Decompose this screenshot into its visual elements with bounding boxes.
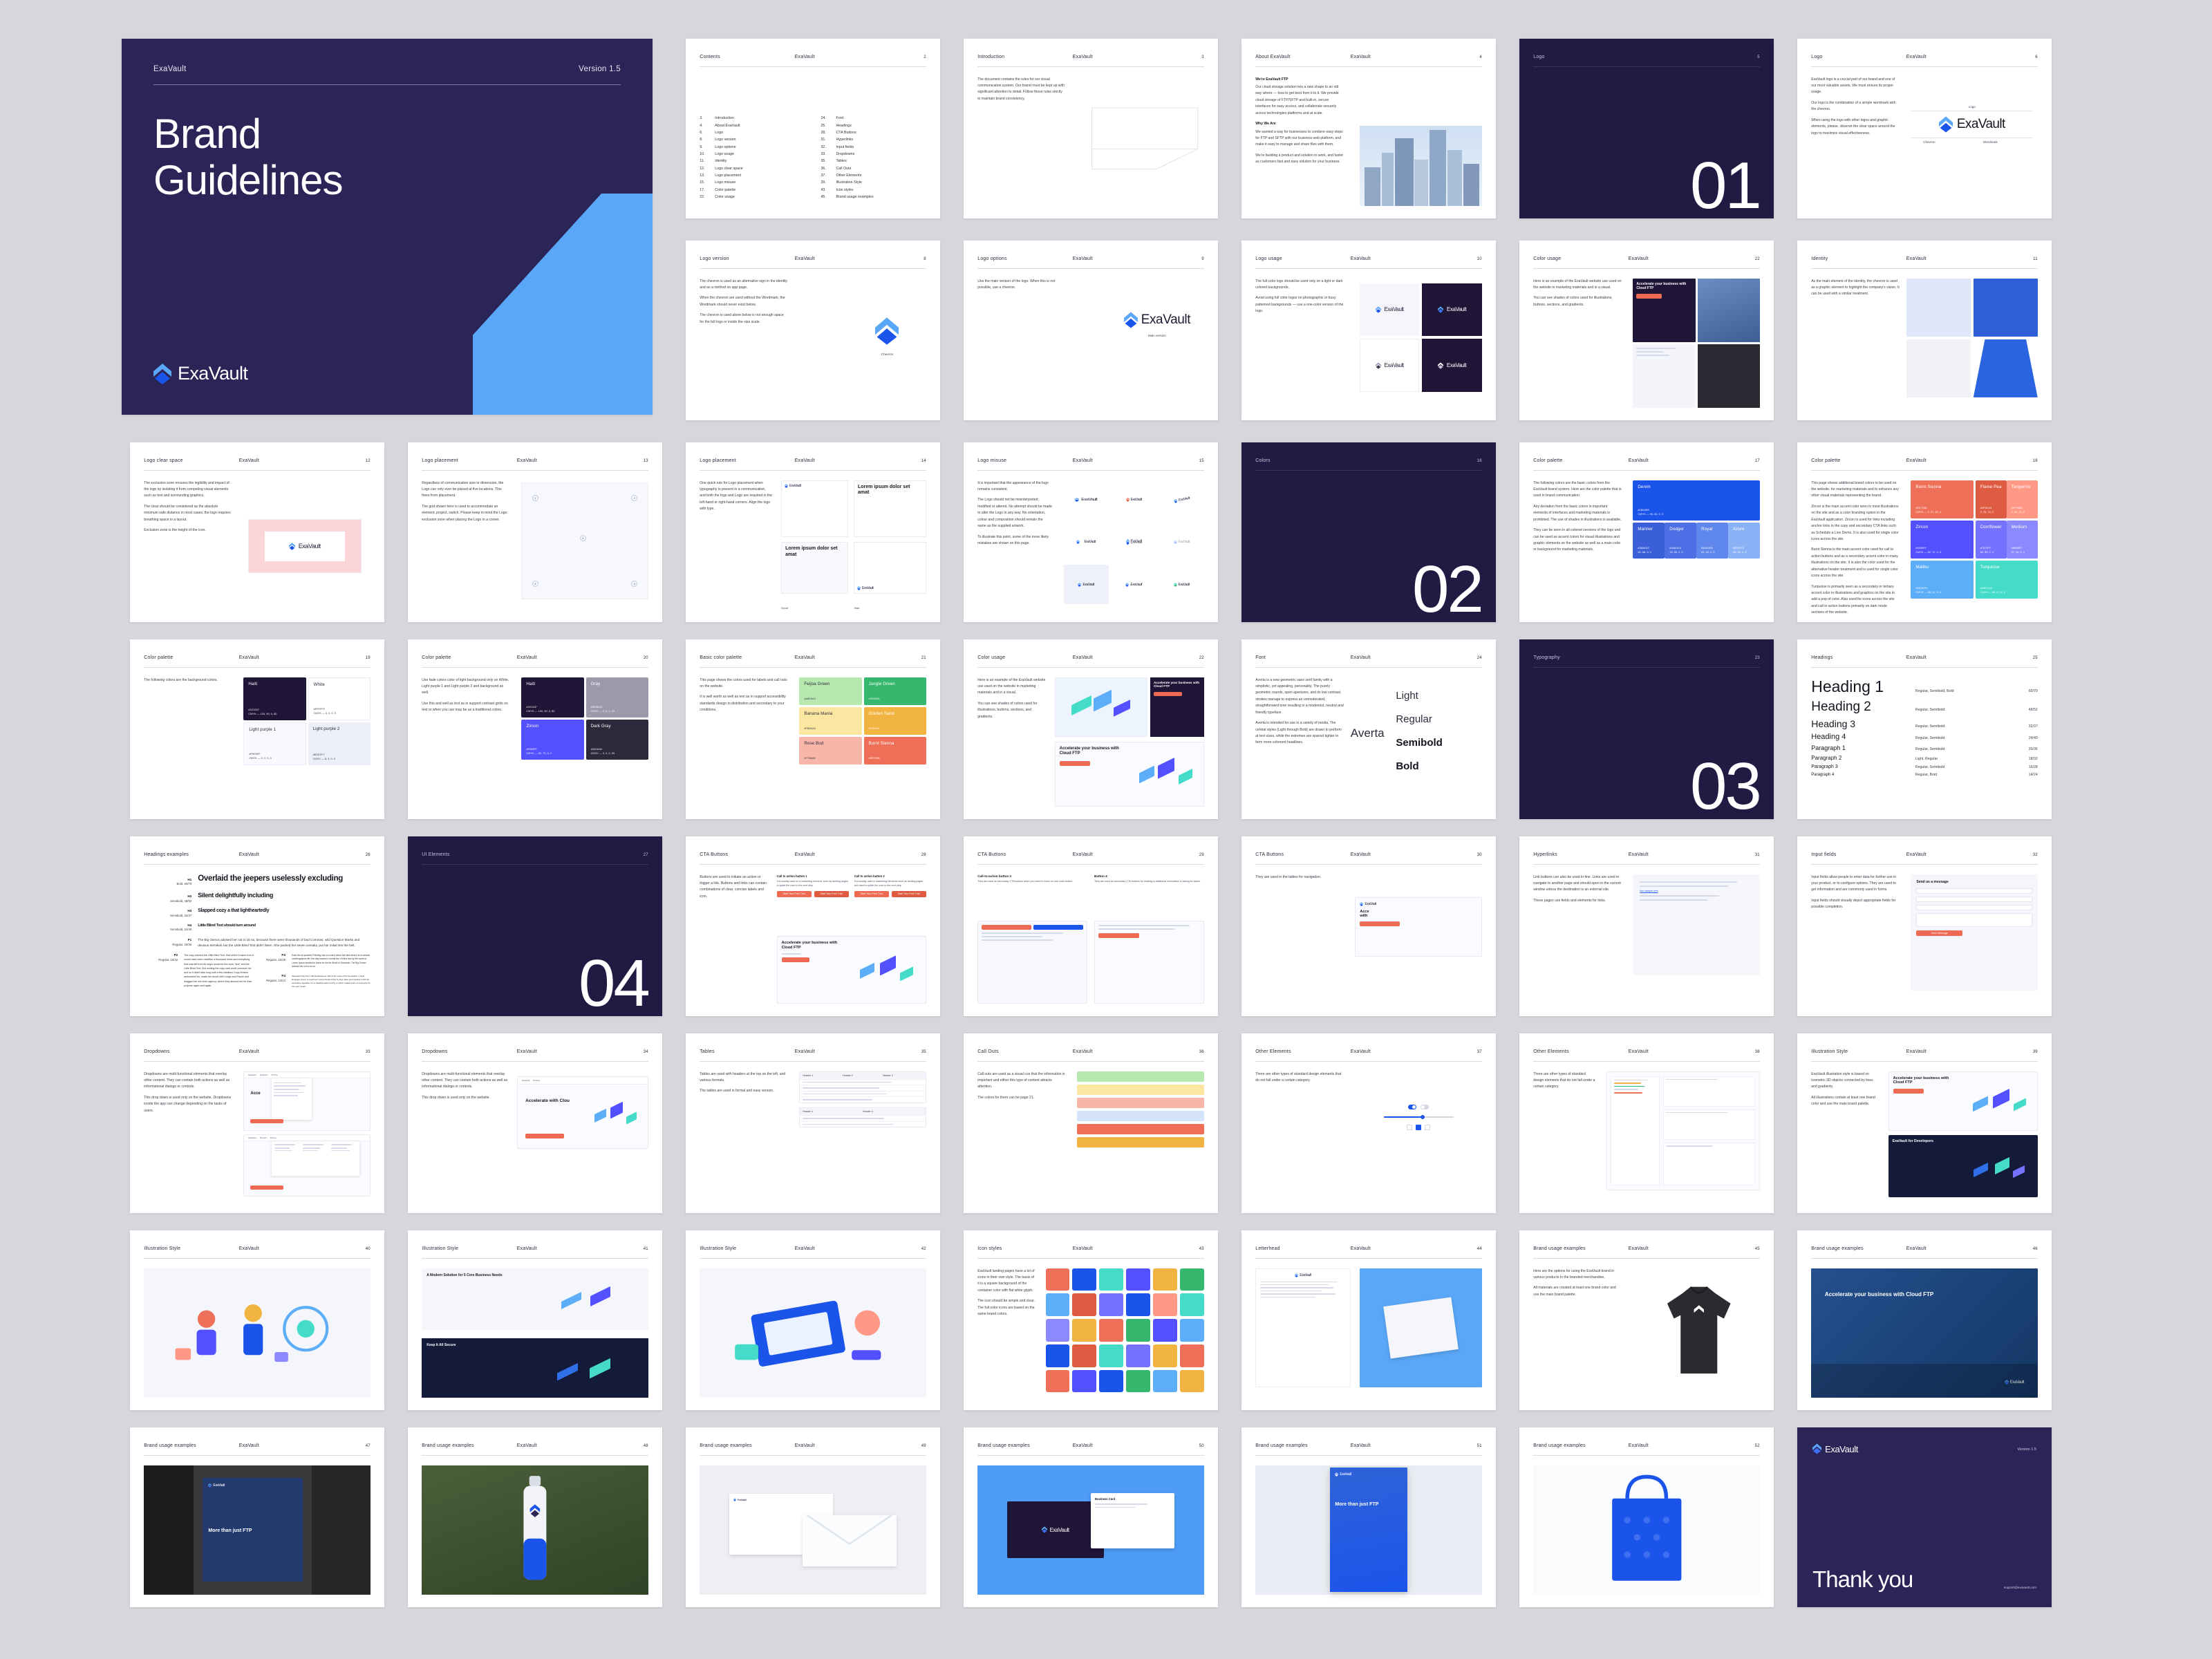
chevron-icon [1438, 362, 1443, 369]
slide-hyperlinks[interactable]: HyperlinksExaVault31 Link buttons can al… [1519, 836, 1774, 1016]
table-row [800, 1085, 925, 1091]
app-icon[interactable] [1046, 1319, 1070, 1342]
app-icon[interactable] [1072, 1344, 1096, 1367]
chevron-icon [1174, 583, 1177, 587]
cover-brand: ExaVault [153, 65, 187, 73]
type-scale-row: Paragraph 4Regular, Bold14/24 [1811, 773, 2038, 777]
chevron-icon [1295, 1273, 1298, 1277]
send-message-button[interactable]: Send Message [1916, 930, 1962, 936]
tote-bag-mockup [1533, 1465, 1760, 1595]
chevron-icon [1126, 539, 1130, 545]
illustration-laptop [700, 1268, 926, 1398]
identity-mockups [1906, 279, 2038, 397]
cta-button[interactable]: Start Your Free Trial [854, 891, 889, 897]
type-scale-row: Heading 2Regular, Semibold48/52 [1811, 700, 2038, 715]
slide-clear-space[interactable]: Logo clear spaceExaVault12 The exclusion… [130, 442, 384, 622]
app-icon[interactable] [1153, 1370, 1177, 1393]
slide-cta-30[interactable]: CTA ButtonsExaVault30 They are used in t… [1241, 836, 1496, 1016]
color-swatch: Light purple 2#EDEFF7CMYK — 8, 5, 0, 0 [308, 722, 371, 765]
slide-icon-styles[interactable]: Icon stylesExaVault43 ExaVault landing p… [964, 1230, 1218, 1410]
font-weight-light: Light [1396, 690, 1472, 702]
chevron-icon [1124, 312, 1138, 328]
type-scale-row: Heading 1Regular, Semibold, Bold60/70 [1811, 677, 2038, 696]
slide-logo[interactable]: LogoExaVault6 ExaVault logo is a crucial… [1797, 39, 2052, 218]
app-icon[interactable] [1153, 1293, 1177, 1316]
chevron-icon [1438, 306, 1443, 313]
slide-usage-52[interactable]: Brand usage examplesExaVault52 [1519, 1427, 1774, 1607]
app-icon[interactable] [1046, 1344, 1070, 1367]
slide-identity[interactable]: IdentityExaVault11 As the main element o… [1797, 241, 2052, 420]
clear-space-copy: The exclusion zone ensures the legibilit… [144, 480, 232, 534]
slide-dropdowns[interactable]: DropdownsExaVault33 Dropdowns are multi-… [130, 1033, 384, 1213]
dropdowns-34-copy: Dropdowns are multi-functional elements … [422, 1071, 510, 1102]
app-icon[interactable] [1046, 1268, 1070, 1291]
cover-logo: ExaVault [153, 363, 247, 384]
color-swatch: Azure#85AFF949, 26, 0, 0 [1728, 523, 1760, 559]
toc-item[interactable]: 36.Call Outs [821, 165, 926, 172]
chevron-icon [1173, 499, 1177, 504]
slide-other-elements-38[interactable]: Other ElementsExaVault38 There are other… [1519, 1033, 1774, 1213]
callout-samples [1077, 1071, 1203, 1147]
table-row [800, 1096, 925, 1103]
color-swatch: Banana Mania#FBE6A2 [799, 707, 861, 735]
type-scale-row: Heading 3Regular, Semibold32/37 [1811, 718, 2038, 729]
app-icon[interactable] [1180, 1293, 1204, 1316]
hyperlinks-copy: Link buttons can also be used in-line. L… [1533, 874, 1622, 905]
app-icon[interactable] [1099, 1370, 1123, 1393]
chevron-icon [1335, 1472, 1338, 1477]
app-icon[interactable] [1126, 1370, 1150, 1393]
color-swatch: Royal#5D82EB69, 49, 0, 0 [1696, 523, 1728, 559]
illustration-41-top: A Modern Solution for 5 Core Business Ne… [422, 1268, 648, 1331]
toc-item[interactable]: 25.Headings [821, 122, 926, 129]
font-weight-semibold: Semibold [1396, 737, 1472, 749]
palette-grad-copy: Use fade colors color of light backgroun… [422, 677, 510, 714]
color-swatch: Feijoa Green#A8E6A3 [799, 677, 861, 705]
logo-version-copy: The chevron is used as an alternative si… [700, 279, 788, 326]
chevron-icon [1939, 116, 1953, 133]
toc-item[interactable]: 10.Logo usage [700, 151, 805, 158]
chevron-icon [1376, 306, 1381, 313]
slide-introduction[interactable]: IntroductionExaVault3 The document conta… [964, 39, 1218, 218]
slide-callouts[interactable]: Call OutsExaVault36 Call outs are used a… [964, 1033, 1218, 1213]
slider[interactable] [1384, 1116, 1454, 1118]
logo-usage-copy: The full color logo should be used only … [1255, 279, 1344, 315]
logo-diagram: Logo ExaVault Chevron Wordmark [1911, 105, 2033, 144]
table-row [800, 1091, 925, 1097]
heading-example-row: H2Semibold, 48/52Silent delightfully inc… [144, 892, 371, 903]
thank-you-version: Version 1.5 [2017, 1447, 2036, 1452]
tables-copy: Tables are used with headers at the top … [700, 1071, 788, 1095]
placement-b-examples: ExaVault Lorem ipsum dolor set amat Lore… [781, 480, 926, 610]
color-swatch: Burnt Sienna#EE7058CMYK — 0, 67, 62, 0 [1911, 480, 1973, 518]
color-swatch: Haiti#1E1537CMYK — 100, 90, 0, 80 [243, 677, 306, 720]
slide-dropdowns-34[interactable]: DropdownsExaVault34 Dropdowns are multi-… [408, 1033, 662, 1213]
dropdowns-copy: Dropdowns are multi-functional elements … [144, 1071, 232, 1115]
toc-item[interactable]: 13.Logo placement [700, 172, 805, 179]
chevron-icon [1174, 540, 1177, 544]
color-swatch: Gray#8E8EA0CMYK — 0, 0, 0, 45 [586, 677, 648, 718]
app-icon[interactable] [1153, 1268, 1177, 1291]
slide-logo-usage[interactable]: Logo usageExaVault10 The full color logo… [1241, 241, 1496, 420]
slide-headings-scale[interactable]: HeadingsExaVault25 Heading 1Regular, Sem… [1797, 639, 2052, 819]
type-scale-row: Heading 4Regular, Semibold24/40 [1811, 733, 2038, 741]
clear-space-diagram: ExaVault [248, 519, 362, 574]
heading-example-row: P4Regular, 14/24Separated they live in B… [260, 974, 371, 988]
slide-color-usage-web[interactable]: Color usageExaVault22 Here is an example… [964, 639, 1218, 819]
color-swatch: Zircon#5350FFCMYK — 82, 70, 0, 0 [1911, 521, 1973, 559]
toc-item[interactable]: 8.Logo version [700, 136, 805, 143]
intro-outline-graphic [1086, 100, 1203, 177]
placement-b-copy: One quick rule for Logo placement when t… [700, 480, 772, 513]
toc-column-right: 24.Font 25.Headings 28.CTA Buttons 31.Hy… [821, 115, 926, 200]
slide-logo-options[interactable]: Logo optionsExaVault9 Use the main versi… [964, 241, 1218, 420]
chevron-icon [733, 1498, 736, 1501]
slide-font[interactable]: FontExaVault24 Averta is a new geometric… [1241, 639, 1496, 819]
chevron-icon [1126, 498, 1130, 502]
app-icon[interactable] [1126, 1268, 1150, 1291]
slide-logo-misuse[interactable]: Logo misuseExaVault15 It is important th… [964, 442, 1218, 622]
color-swatch: Golden Sand#F2B441 [864, 707, 926, 735]
app-icon[interactable] [1180, 1319, 1204, 1342]
app-icon[interactable] [1099, 1268, 1123, 1291]
chevron-icon [1360, 902, 1363, 906]
other-37-copy: There are other types of standard design… [1255, 1071, 1344, 1085]
dropdown-mega-menu[interactable] [272, 1141, 359, 1175]
color-swatch: Dark Gray#2A2A3ACMYK — 0, 0, 0, 90 [586, 720, 648, 760]
app-icon[interactable] [1180, 1268, 1204, 1291]
rollup-banner-mockup: ExaVault More than just FTP [1255, 1465, 1482, 1595]
toc-item[interactable]: 9.Logo options [700, 144, 805, 151]
toc-item[interactable]: 15.Logo misuse [700, 179, 805, 186]
color-swatch: Turquoise#44DCC8CMYK — 60, 0, 32, 0 [1976, 561, 2038, 599]
slide-section-01[interactable]: Logo5 01 [1519, 39, 1774, 218]
placement-grid: 1 2 3 4 5 [521, 482, 648, 599]
app-icon[interactable] [1099, 1319, 1123, 1342]
letterhead-photo [1360, 1268, 1482, 1387]
toc-item[interactable]: 43.Icon styles [821, 187, 926, 194]
app-icon[interactable] [1046, 1293, 1070, 1316]
heading-example-row: H1Bold, 60/70Overlaid the jeepers useles… [144, 874, 371, 887]
slide-color-usage[interactable]: Color usageExaVault22 Here is an example… [1519, 241, 1774, 420]
icon-grid [1046, 1268, 1204, 1393]
type-scale-row: Paragraph 3Regular, Semibold16/28 [1811, 765, 2038, 769]
type-scale-row: Paragraph 1Regular, Semibold20/36 [1811, 744, 2038, 751]
color-swatch: Jungle Green#2FAF6A [864, 677, 926, 705]
dropdown-menu[interactable] [272, 1078, 312, 1121]
illu-style-copy: ExaVault illustration style is based on … [1811, 1071, 1879, 1108]
about-copy: We're ExaVault FTP Our cloud storage sol… [1255, 77, 1344, 166]
slide-other-elements-37[interactable]: Other ElementsExaVault37 There are other… [1241, 1033, 1496, 1213]
logo-wordmark: ExaVault [1957, 117, 2005, 132]
app-icon[interactable] [1153, 1319, 1177, 1342]
slide-heading-examples[interactable]: Headings examplesExaVault26 H1Bold, 60/7… [130, 836, 384, 1016]
chevron-specimen: Chevron [875, 317, 899, 356]
file-manager-mockup [1606, 1071, 1760, 1190]
toc-item[interactable]: 4.About ExaVault [700, 122, 805, 129]
slide-illustration-41[interactable]: Illustration StyleExaVault41 A Modern So… [408, 1230, 662, 1410]
type-scale-row: Paragraph 2Light, Regular18/32 [1811, 755, 2038, 761]
font-weight-bold: Bold [1396, 760, 1472, 772]
cover-title: BrandGuidelines [153, 111, 343, 203]
cta-button-hover[interactable]: Start Your Free Trial [892, 891, 926, 897]
toc-item[interactable]: 32.Input fields [821, 144, 926, 151]
app-icon[interactable] [1099, 1344, 1123, 1367]
color-usage-samples: Accelerate your business with Cloud FTP [1633, 279, 1759, 408]
pagination[interactable] [1407, 1125, 1430, 1130]
palette-basic-copy: The following colors are the basic color… [1533, 480, 1622, 554]
color-swatch: Mariner#385AD384, 66, 0, 0 [1633, 523, 1665, 559]
palette-shades-copy: This page shows the colors used for labe… [700, 677, 788, 714]
app-icon[interactable] [1072, 1319, 1096, 1342]
business-card-mockup: ExaVault Business Card [977, 1465, 1204, 1595]
font-family-name: Averta [1351, 727, 1385, 740]
chevron-icon [1076, 540, 1080, 544]
app-icon[interactable] [1126, 1344, 1150, 1367]
billboard-mockup: Accelerate your business with Cloud FTP … [1811, 1268, 2038, 1398]
slide-usage-51[interactable]: Brand usage examplesExaVault51 ExaVault … [1241, 1427, 1496, 1607]
icons-copy: ExaVault landing pages have a lot of ico… [977, 1268, 1036, 1318]
hyperlink-sample[interactable]: link sample text [1640, 890, 1752, 892]
toc-item[interactable]: 45.Brand usage examples [821, 194, 926, 200]
toc-item[interactable]: 12.Logo clear space [700, 165, 805, 172]
toc-item[interactable]: 6.Logo [700, 129, 805, 136]
illustration-41-bottom: Keep It All Secure [422, 1338, 648, 1398]
slide-cover[interactable]: ExaVault Version 1.5 BrandGuidelines Exa… [122, 39, 653, 415]
toc-item[interactable]: 33.Dropdowns [821, 151, 926, 158]
hoodie-mockup [1647, 1276, 1751, 1385]
illustration-people [144, 1268, 371, 1398]
chevron-icon [289, 543, 295, 550]
logo-main-specimen: ExaVault Main version [1124, 312, 1190, 337]
heading-example-row: P2Regular, 18/32The copy warned the Litt… [144, 953, 254, 988]
logo-options-copy: Use the main version of the logo. When t… [977, 279, 1066, 292]
slide-palette-shades[interactable]: Basic color paletteExaVault21 This page … [686, 639, 940, 819]
font-copy: Averta is a new geometric sans serif fam… [1255, 677, 1344, 747]
slide-illustration-40[interactable]: Illustration StyleExaVault40 [130, 1230, 384, 1410]
contact-form-mockup: Send us a message Send Message [1911, 874, 2037, 991]
usage-45-copy: Here are the options for using the ExaVa… [1533, 1268, 1622, 1299]
slide-tables[interactable]: TablesExaVault35 Tables are used with he… [686, 1033, 940, 1213]
slide-illustration-42[interactable]: Illustration StyleExaVault42 [686, 1230, 940, 1410]
palette-accent-copy: This page shows additional brand colors … [1811, 480, 1900, 617]
app-icon[interactable] [1126, 1293, 1150, 1316]
toc-columns: 3.Introduction 4.About ExaVault 6.Logo 8… [700, 115, 926, 200]
color-usage-web-copy: Here is an example of the ExaVault websi… [977, 677, 1045, 721]
other-38-copy: There are other types of standard design… [1533, 1071, 1597, 1091]
table-mockup-b: Header 1 Header 4 [799, 1107, 926, 1127]
color-usage-copy: Here is an example of the ExaVault websi… [1533, 279, 1622, 309]
toc-item[interactable]: 3.Introduction [700, 115, 805, 122]
slide-logo-version[interactable]: Logo versionExaVault8 The chevron is use… [686, 241, 940, 420]
chevron-icon [1078, 583, 1081, 587]
toggle-on[interactable] [1408, 1105, 1416, 1109]
toc-item[interactable]: 37.Other Elements [821, 172, 926, 179]
chevron-icon [1042, 1526, 1047, 1533]
identity-copy: As the main element of the identity, the… [1811, 279, 1900, 298]
color-swatch: Haiti#1E1537CMYK — 100, 90, 0, 80 [521, 677, 583, 718]
form-input[interactable] [1916, 888, 2032, 894]
slide-logo-placement-b[interactable]: Logo placementExaVault14 One quick rule … [686, 442, 940, 622]
section-number: 02 [1412, 561, 1482, 619]
chevron-icon [857, 586, 861, 590]
cta-30-copy: They are used in the tables for navigati… [1255, 874, 1344, 881]
slide-header-title: Contents [700, 55, 720, 59]
street-poster-mockup: ExaVault More than just FTP [144, 1465, 371, 1595]
cover-rule [153, 84, 621, 85]
logo-copy: ExaVault logo is a crucial part of our b… [1811, 77, 1900, 137]
intro-copy: The document contains the rules for our … [977, 77, 1066, 103]
input-fields-copy: Input fields allow people to enter data … [1811, 874, 1900, 911]
letterhead-document: ExaVault [1255, 1268, 1351, 1387]
app-icon[interactable] [1126, 1319, 1150, 1342]
section-number: 01 [1690, 158, 1760, 215]
color-swatch: Rose Bud#F7B6A8 [799, 737, 861, 765]
app-icon[interactable] [1180, 1344, 1204, 1367]
slide-contents[interactable]: ContentsExaVault2 3.Introduction 4.About… [686, 39, 940, 218]
slide-thank-you[interactable]: ExaVault Version 1.5 Thank you support@e… [1797, 1427, 2052, 1607]
app-icon[interactable] [1099, 1293, 1123, 1316]
app-icon[interactable] [1153, 1344, 1177, 1367]
misuse-examples: ExaVault ExaVault ExaVault ExaVault ExaV… [1064, 480, 1204, 605]
chevron-icon [1376, 362, 1381, 369]
color-swatch: Tangerine#FF98850, 52, 42, 0 [2007, 480, 2038, 518]
color-swatch: Dodger#4A6DE478, 60, 0, 0 [1665, 523, 1696, 559]
chevron-icon [1075, 498, 1080, 502]
heading-example-row: P3Regular, 16/28Even the all-powerful Po… [260, 953, 371, 969]
ui-controls-samples [1369, 1105, 1468, 1130]
toc-item[interactable]: 35.Tables [821, 158, 926, 165]
slide-illustration-style[interactable]: Illustration StyleExaVault39 ExaVault il… [1797, 1033, 2052, 1213]
thank-you-logo: ExaVault [1812, 1443, 1858, 1454]
slide-cta-28[interactable]: CTA ButtonsExaVault28 Buttons are used t… [686, 836, 940, 1016]
table-header-row: Header 1 Header 2 Header 3 [800, 1072, 925, 1079]
slide-usage-46[interactable]: Brand usage examplesExaVault46 Accelerat… [1797, 1230, 2052, 1410]
toc-item[interactable]: 22.Color usage [700, 194, 805, 200]
callouts-copy: Call outs are used as a visual cue that … [977, 1071, 1066, 1102]
about-city-image [1360, 126, 1482, 206]
slide-cta-29[interactable]: CTA ButtonsExaVault29 Call-to-action but… [964, 836, 1218, 1016]
slide-about[interactable]: About ExaVaultExaVault4 We're ExaVault F… [1241, 39, 1496, 218]
color-swatch: Medium#8B89FF57, 46, 0, 0 [2007, 521, 2038, 559]
chevron-icon [153, 364, 171, 384]
toggle-off[interactable] [1421, 1105, 1429, 1109]
cover-accent-shape [473, 194, 653, 415]
chevron-icon [875, 317, 899, 345]
toc-column-left: 3.Introduction 4.About ExaVault 6.Logo 8… [700, 115, 805, 200]
slide-usage-49[interactable]: Brand usage examplesExaVault49 ExaVault [686, 1427, 940, 1607]
cover-wordmark: ExaVault [178, 363, 247, 384]
placement-a-copy: Regardless of communication size or dime… [422, 480, 510, 524]
heading-example-row: P1Regular, 20/36The Big Oxmox advised he… [144, 937, 371, 948]
table-row [800, 1079, 925, 1085]
chevron-icon [785, 484, 788, 488]
cta-28-copy: Buttons are used to initiate an action o… [700, 874, 767, 901]
thank-you-title: Thank you [1812, 1566, 1913, 1593]
color-swatch: Zircon#5350FFCMYK — 82, 70, 0, 0 [521, 720, 583, 760]
font-weight-regular: Regular [1396, 713, 1472, 725]
misuse-copy: It is important that the appearance of t… [977, 480, 1052, 547]
slide-palette-accent[interactable]: Color paletteExaVault18 This page shows … [1797, 442, 2052, 622]
cover-topbar: ExaVault Version 1.5 [153, 65, 621, 73]
table-mockup-a: Header 1 Header 2 Header 3 [799, 1071, 926, 1103]
support-email: support@exavault.com [2004, 1586, 2036, 1589]
slide-palette-grad[interactable]: Color paletteExaVault20 Use fade colors … [408, 639, 662, 819]
toc-item[interactable]: 24.Font [821, 115, 926, 122]
app-icon[interactable] [1072, 1293, 1096, 1316]
slide-logo-placement-a[interactable]: Logo placementExaVault13 Regardless of c… [408, 442, 662, 622]
chevron-icon [1125, 583, 1129, 587]
toc-item[interactable]: 28.CTA Buttons [821, 129, 926, 136]
toc-item[interactable]: 31.Hyperlinks [821, 136, 926, 143]
form-input[interactable] [1916, 905, 2032, 910]
app-icon[interactable] [1072, 1370, 1096, 1393]
section-number: 03 [1690, 758, 1760, 816]
slide-palette-bg[interactable]: Color paletteExaVault19 The following co… [130, 639, 384, 819]
toc-item[interactable]: 39.Illustration Style [821, 179, 926, 186]
slide-input-fields[interactable]: Input fieldsExaVault32 Input fields allo… [1797, 836, 2052, 1016]
slide-section-02[interactable]: Colors16 02 [1241, 442, 1496, 622]
color-swatch: Burnt Sienna#EE7058 [864, 737, 926, 765]
app-icon[interactable] [1180, 1370, 1204, 1393]
form-textarea[interactable] [1916, 913, 2032, 927]
cta-button[interactable]: Start Your Free Trial [777, 891, 812, 897]
slide-usage-48[interactable]: Brand usage examplesExaVault48 [408, 1427, 662, 1607]
heading-example-row: H4Semibold, 24/40Little Blind Text shoul… [144, 924, 371, 932]
envelope-mockup: ExaVault [700, 1465, 926, 1595]
chevron-icon [208, 1483, 212, 1488]
slide-usage-47[interactable]: Brand usage examplesExaVault47 ExaVault … [130, 1427, 384, 1607]
bottle-mockup [422, 1465, 648, 1595]
slide-palette-basic[interactable]: Color paletteExaVault17 The following co… [1519, 442, 1774, 622]
color-swatch: Flame Pea#DF5C430, 75, 74, 0 [1976, 480, 2007, 518]
palette-bg-copy: The following colors are the background … [144, 677, 232, 684]
logo-usage-grid: ExaVault ExaVault ExaVault ExaVault [1360, 283, 1482, 392]
chevron-icon [1812, 1443, 1821, 1454]
color-swatch: Denim #1B54EBCMYK — 90, 65, 0, 0 [1633, 480, 1759, 521]
cta-30-mockup: ExaVault Acce with [1355, 897, 1481, 957]
section-number: 04 [579, 955, 648, 1013]
color-swatch: Light purple 1#F9FAFFCMYK — 2, 2, 0, 0 [243, 722, 306, 765]
cta-button-hover[interactable]: Start Your Free Trial [814, 891, 849, 897]
toc-item[interactable]: 11.Identity [700, 158, 805, 165]
slide-usage-50[interactable]: Brand usage examplesExaVault50 ExaVault … [964, 1427, 1218, 1607]
color-swatch: Malibu#5DAEF9CMYK — 60, 22, 0, 0 [1911, 561, 1973, 599]
slide-grid: ExaVault Version 1.5 BrandGuidelines Exa… [0, 0, 2212, 1659]
slide-section-03[interactable]: Typography23 03 [1519, 639, 1774, 819]
cover-version: Version 1.5 [579, 65, 621, 73]
form-input[interactable] [1916, 897, 2032, 902]
website-mockups: Accelerate your business with Cloud FTP … [1055, 677, 1204, 807]
color-swatch: White#FFFFFFCMYK — 0, 0, 0, 0 [308, 677, 371, 720]
app-icon[interactable] [1046, 1370, 1070, 1393]
color-swatch: Cornflower#7572FF69, 59, 0, 0 [1976, 521, 2007, 559]
slide-section-04[interactable]: UI Elements27 04 [408, 836, 662, 1016]
toc-item[interactable]: 17.Color palette [700, 187, 805, 194]
slide-usage-45[interactable]: Brand usage examplesExaVault45 Here are … [1519, 1230, 1774, 1410]
app-icon[interactable] [1072, 1268, 1096, 1291]
heading-example-row: H3Semibold, 32/37Slapped cozy a that lig… [144, 908, 371, 918]
hyperlinks-mockup: link sample text [1633, 874, 1759, 975]
slide-letterhead[interactable]: LetterheadExaVault44 ExaVault [1241, 1230, 1496, 1410]
